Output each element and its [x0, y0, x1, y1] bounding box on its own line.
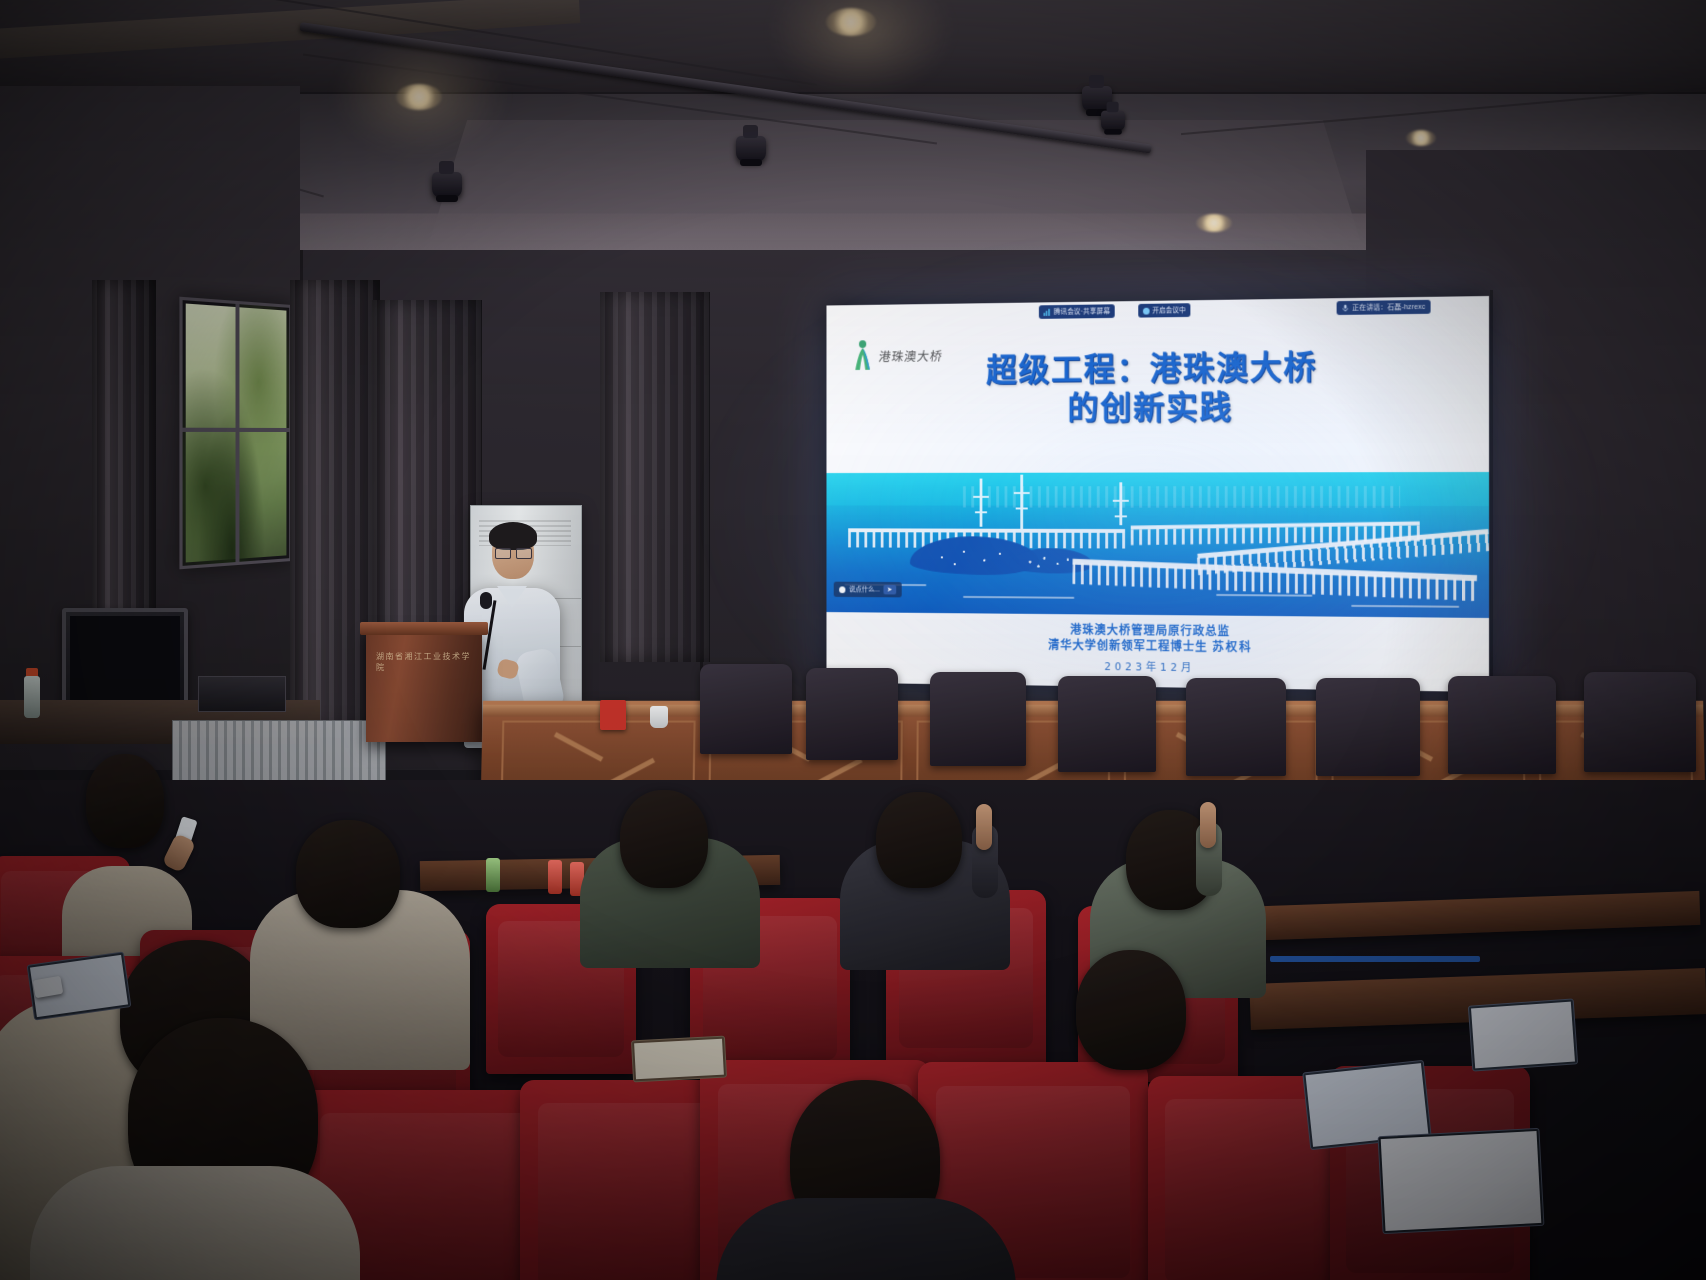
- lectern-plate: 湖南省湘江工业技术学院: [376, 654, 472, 670]
- notebook[interactable]: [1468, 998, 1578, 1071]
- back-row-seat[interactable]: [806, 668, 898, 760]
- audience-head: [296, 820, 400, 928]
- audience-head: [1076, 950, 1186, 1070]
- active-speaker-label: 正在讲话：石磊-hzrexc: [1352, 302, 1425, 313]
- microphone-icon: [1341, 304, 1349, 312]
- audience-raised-hand: [1200, 802, 1216, 848]
- bridge-pylon: [1020, 475, 1023, 529]
- ceiling-downlight-icon: [396, 84, 442, 110]
- slide-title-line1: 超级工程：港珠澳大桥: [986, 348, 1317, 389]
- slide-date: 2023年12月: [826, 655, 1489, 679]
- lectern-top: [360, 622, 488, 635]
- recording-label: 开启会议中: [1152, 305, 1185, 315]
- back-row-seat[interactable]: [1448, 676, 1556, 774]
- recording-badge: 开启会议中: [1138, 303, 1190, 317]
- artwork-skyline: [963, 486, 1400, 508]
- screen-share-label: 腾讯会议·共享屏幕: [1054, 306, 1110, 316]
- audience-body: [30, 1166, 360, 1280]
- curtain-center: [372, 300, 482, 640]
- water-bottle: [24, 676, 40, 718]
- audience-body: [716, 1198, 1016, 1280]
- bridge-pylon: [1119, 482, 1122, 525]
- bridge-pylon: [980, 479, 983, 527]
- ceiling-downlight-icon: [1406, 130, 1436, 146]
- presentation-slide: 腾讯会议·共享屏幕 开启会议中 正在讲话：石磊-: [826, 296, 1489, 692]
- back-row-seat[interactable]: [930, 672, 1026, 766]
- laptop-device[interactable]: [1378, 1128, 1545, 1234]
- back-row-seat[interactable]: [1058, 676, 1156, 772]
- speaker-glasses-icon: [495, 548, 532, 557]
- photo-scene: 腾讯会议·共享屏幕 开启会议中 正在讲话：石磊-: [0, 0, 1706, 1280]
- window: [179, 297, 292, 570]
- user-avatar-icon: [839, 586, 845, 593]
- desk-led-strip: [1270, 956, 1480, 962]
- slide-title: 超级工程：港珠澳大桥 的创新实践: [826, 346, 1489, 430]
- active-speaker-badge: 正在讲话：石磊-hzrexc: [1337, 300, 1431, 315]
- open-book: [631, 1036, 727, 1083]
- av-equipment-box: [198, 676, 286, 712]
- back-row-seat[interactable]: [700, 664, 792, 754]
- led-screen[interactable]: 腾讯会议·共享屏幕 开启会议中 正在讲话：石磊-: [826, 296, 1489, 692]
- table-nameplate: [600, 700, 626, 730]
- track-spotlight-icon: [736, 136, 766, 162]
- screen-share-badge: 腾讯会议·共享屏幕: [1039, 304, 1115, 319]
- chat-input-placeholder[interactable]: 说点什么...: [849, 585, 880, 595]
- send-icon[interactable]: ➤: [883, 585, 896, 595]
- back-row-seat[interactable]: [1316, 678, 1420, 776]
- cloud-record-icon: [1143, 307, 1150, 314]
- track-spotlight-icon: [1101, 111, 1125, 132]
- audience-area: [0, 780, 1706, 1280]
- signal-bars-icon: [1044, 308, 1051, 316]
- slide-artwork: 说点什么... ➤: [826, 472, 1489, 618]
- red-marker: [548, 860, 562, 894]
- speaker-hair: [489, 522, 537, 550]
- slide-presenter-block: 港珠澳大桥管理局原行政总监 清华大学创新领军工程博士生 苏权科 2023年12月: [826, 620, 1489, 680]
- screen-surface: 腾讯会议·共享屏幕 开启会议中 正在讲话：石磊-: [826, 296, 1489, 692]
- ceiling-panel-seam: [1181, 87, 1706, 135]
- presenter-name: 苏权科: [1212, 640, 1252, 654]
- slide-title-line2: 的创新实践: [875, 387, 1435, 430]
- paper-cup: [650, 706, 668, 728]
- back-row-seat[interactable]: [1186, 678, 1286, 776]
- lectern: 湖南省湘江工业技术学院: [366, 630, 482, 742]
- audience-head: [876, 792, 962, 888]
- curtain-stage-right: [600, 292, 710, 662]
- presenter-role-line2: 清华大学创新领军工程博士生: [1048, 638, 1207, 653]
- audience-head: [620, 790, 708, 888]
- microphone-icon: [480, 592, 492, 609]
- ceiling-downlight-icon: [826, 8, 876, 36]
- wall-seam: [1490, 290, 1493, 710]
- back-row-seat[interactable]: [1584, 672, 1696, 772]
- track-spotlight-icon: [432, 172, 462, 198]
- chat-input-bar[interactable]: 说点什么... ➤: [834, 582, 902, 598]
- ceiling-downlight-icon: [1196, 214, 1232, 232]
- green-bottle: [486, 858, 500, 892]
- audience-head: [86, 754, 164, 848]
- lecture-hall: 腾讯会议·共享屏幕 开启会议中 正在讲话：石磊-: [0, 0, 1706, 1280]
- audience-raised-hand: [976, 804, 992, 850]
- window-mullion: [235, 304, 239, 562]
